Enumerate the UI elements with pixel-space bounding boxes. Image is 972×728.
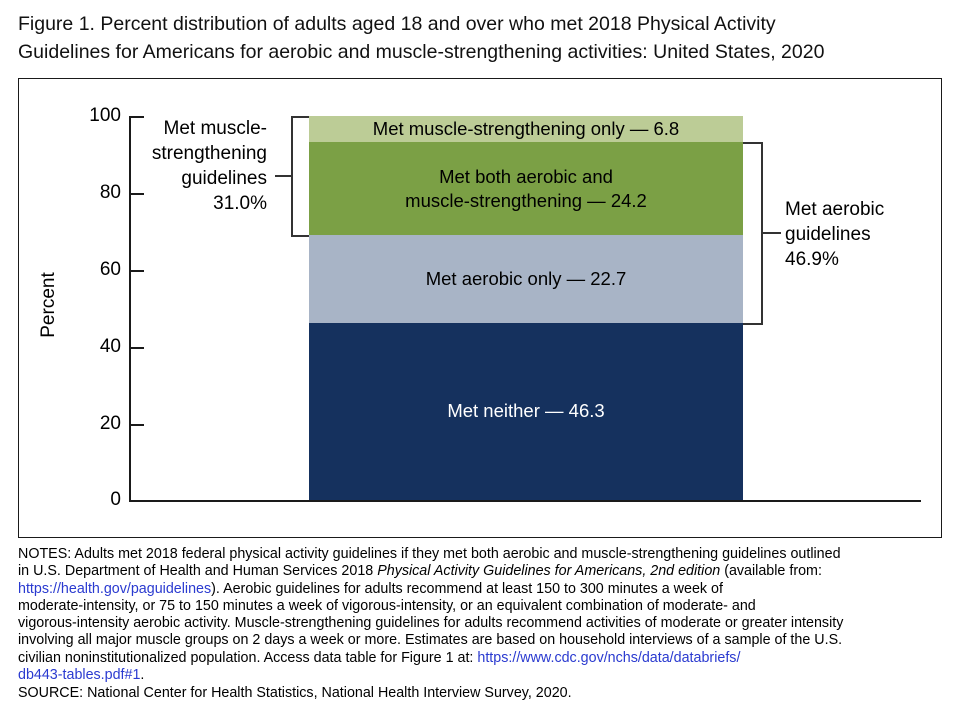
annotation-muscle-line1: Met muscle- bbox=[87, 116, 267, 141]
y-tick-40 bbox=[131, 347, 144, 349]
annotation-muscle-line4: 31.0% bbox=[87, 191, 267, 216]
figure-page: Figure 1. Percent distribution of adults… bbox=[0, 0, 972, 728]
segment-aerobic-only: Met aerobic only — 22.7 bbox=[309, 235, 743, 322]
stacked-bar: Met muscle-strengthening only — 6.8 Met … bbox=[309, 116, 743, 500]
chart-frame: 100 80 60 40 20 0 Percent Met muscle-str… bbox=[18, 78, 942, 538]
notes-line-7: civilian noninstitutionalized population… bbox=[18, 650, 958, 667]
notes-line-5: vigorous-intensity aerobic activity. Mus… bbox=[18, 615, 958, 632]
notes-line-8b: . bbox=[140, 667, 144, 683]
notes-block: NOTES: Adults met 2018 federal physical … bbox=[18, 546, 958, 703]
notes-line-2a: in U.S. Department of Health and Human S… bbox=[18, 563, 377, 579]
segment-both-label: Met both aerobic and muscle-strengthenin… bbox=[405, 165, 647, 213]
segment-both: Met both aerobic and muscle-strengthenin… bbox=[309, 142, 743, 235]
annotation-aerobic: Met aerobic guidelines 46.9% bbox=[785, 197, 972, 272]
y-tick-20 bbox=[131, 424, 144, 426]
notes-line-2: in U.S. Department of Health and Human S… bbox=[18, 563, 958, 580]
notes-line-7a: civilian noninstitutionalized population… bbox=[18, 650, 477, 666]
annotation-muscle-line3: guidelines bbox=[87, 166, 267, 191]
link-db443-tables[interactable]: db443-tables.pdf#1 bbox=[18, 667, 140, 683]
page-title: Figure 1. Percent distribution of adults… bbox=[18, 10, 948, 66]
segment-neither-label: Met neither — 46.3 bbox=[447, 399, 604, 423]
segment-muscle-only-label: Met muscle-strengthening only — 6.8 bbox=[373, 117, 679, 141]
annotation-muscle-strengthening: Met muscle- strengthening guidelines 31.… bbox=[87, 116, 267, 216]
y-tick-60 bbox=[131, 270, 144, 272]
link-health-gov[interactable]: https://health.gov/paguidelines bbox=[18, 581, 211, 597]
source-line: SOURCE: National Center for Health Stati… bbox=[18, 685, 958, 702]
y-axis-title: Percent bbox=[38, 245, 60, 365]
y-tick-label-60: 60 bbox=[59, 259, 121, 281]
plot-area: 100 80 60 40 20 0 Percent Met muscle-str… bbox=[19, 79, 941, 537]
segment-aerobic-only-label: Met aerobic only — 22.7 bbox=[426, 267, 627, 291]
segment-both-label-line1: Met both aerobic and bbox=[405, 165, 647, 189]
segment-neither: Met neither — 46.3 bbox=[309, 323, 743, 500]
notes-line-3: https://health.gov/paguidelines). Aerobi… bbox=[18, 581, 958, 598]
y-tick-label-40: 40 bbox=[59, 336, 121, 358]
notes-line-1: NOTES: Adults met 2018 federal physical … bbox=[18, 546, 958, 563]
segment-muscle-only: Met muscle-strengthening only — 6.8 bbox=[309, 116, 743, 142]
annotation-aerobic-line3: 46.9% bbox=[785, 247, 972, 272]
notes-line-2c: (available from: bbox=[720, 563, 822, 579]
title-line-2: Guidelines for Americans for aerobic and… bbox=[18, 38, 948, 66]
link-cdc-databriefs[interactable]: https://www.cdc.gov/nchs/data/databriefs… bbox=[477, 650, 740, 666]
annotation-aerobic-line1: Met aerobic bbox=[785, 197, 972, 222]
annotation-aerobic-line2: guidelines bbox=[785, 222, 972, 247]
notes-line-8: db443-tables.pdf#1. bbox=[18, 667, 958, 684]
notes-line-3b: ). Aerobic guidelines for adults recomme… bbox=[211, 581, 723, 597]
y-tick-label-20: 20 bbox=[59, 413, 121, 435]
notes-line-4: moderate-intensity, or 75 to 150 minutes… bbox=[18, 598, 958, 615]
y-tick-0 bbox=[131, 500, 144, 502]
y-tick-label-0: 0 bbox=[59, 489, 121, 511]
x-axis-line bbox=[129, 500, 921, 502]
title-line-1: Figure 1. Percent distribution of adults… bbox=[18, 10, 948, 38]
notes-publication-title: Physical Activity Guidelines for America… bbox=[377, 563, 720, 579]
segment-both-label-line2: muscle-strengthening — 24.2 bbox=[405, 189, 647, 213]
notes-line-6: involving all major muscle groups on 2 d… bbox=[18, 632, 958, 649]
annotation-muscle-line2: strengthening bbox=[87, 141, 267, 166]
